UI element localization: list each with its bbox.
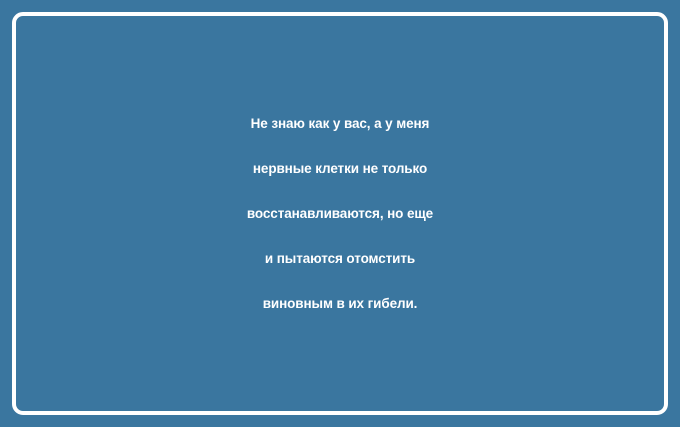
quote-line-2: нервные клетки не только [40,146,640,191]
quote-line-5: виновным в их гибели. [40,281,640,326]
quote-text-block: Не знаю как у вас, а у меня нервные клет… [0,0,680,427]
quote-line-3: восстанавливаются, но еще [40,191,640,236]
quote-line-4: и пытаются отомстить [40,236,640,281]
quote-card: Не знаю как у вас, а у меня нервные клет… [0,0,680,427]
quote-line-1: Не знаю как у вас, а у меня [40,101,640,146]
